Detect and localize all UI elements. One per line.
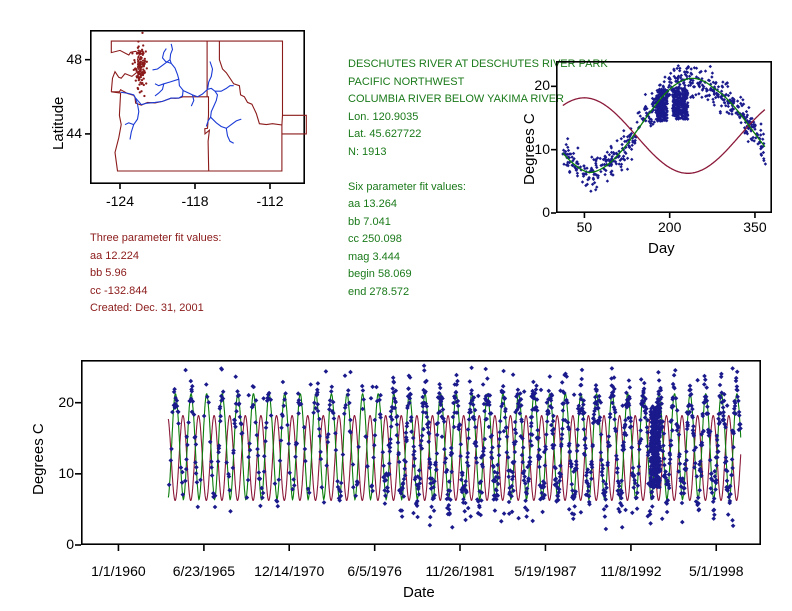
time-series-plot bbox=[81, 360, 761, 545]
six-param-cc: cc 250.098 bbox=[348, 231, 608, 249]
three-param-block: Three parameter fit values: aa 12.224 bb… bbox=[90, 230, 221, 318]
map-ylabel: Latitude bbox=[50, 97, 67, 150]
rivers bbox=[153, 60, 171, 70]
tick-label: -124 bbox=[106, 193, 134, 209]
tick-label: 12/14/1970 bbox=[254, 563, 324, 579]
day-cycle-panel bbox=[556, 61, 772, 213]
timeseries-xlabel: Date bbox=[403, 584, 435, 601]
state-outlines bbox=[111, 92, 209, 171]
tick-label: 0 bbox=[542, 204, 550, 220]
rivers bbox=[183, 88, 218, 126]
tick-label: 5/19/1987 bbox=[514, 563, 576, 579]
rivers bbox=[208, 62, 213, 90]
three-param-bb: bb 5.96 bbox=[90, 265, 221, 283]
tick-label: 50 bbox=[577, 219, 593, 235]
three-param-cc: cc -132.844 bbox=[90, 283, 221, 301]
created-date: Created: Dec. 31, 2001 bbox=[90, 300, 221, 318]
timeseries-ylabel: Degrees C bbox=[30, 423, 47, 495]
rivers bbox=[125, 123, 134, 125]
tick-label: 48 bbox=[66, 51, 82, 67]
tick-label: 6/5/1976 bbox=[347, 563, 402, 579]
tick-label: 10 bbox=[58, 465, 74, 481]
state-outlines bbox=[219, 41, 282, 125]
rivers bbox=[215, 86, 234, 92]
rivers bbox=[155, 79, 179, 86]
six-param-begin: begin 58.069 bbox=[348, 266, 608, 284]
tick-label: 20 bbox=[534, 77, 550, 93]
tick-label: 20 bbox=[58, 394, 74, 410]
tick-label: 44 bbox=[66, 125, 82, 141]
rivers bbox=[211, 117, 242, 128]
tick-label: -118 bbox=[182, 193, 209, 209]
tick-label: 0 bbox=[66, 536, 74, 552]
tick-label: 6/23/1965 bbox=[173, 563, 235, 579]
timeseries-points bbox=[167, 363, 743, 531]
rivers bbox=[226, 128, 233, 143]
tick-label: 11/26/1981 bbox=[425, 563, 494, 579]
tick-label: 11/8/1992 bbox=[600, 563, 661, 579]
state-outlines bbox=[207, 41, 282, 171]
six-param-mag: mag 3.444 bbox=[348, 249, 608, 267]
tick-label: 5/1/1998 bbox=[689, 563, 744, 579]
six-param-bb: bb 7.041 bbox=[348, 214, 608, 232]
map-panel bbox=[90, 30, 305, 184]
tick-label: 350 bbox=[743, 219, 766, 235]
six-param-end: end 278.572 bbox=[348, 284, 608, 302]
day-points bbox=[561, 64, 767, 193]
tick-label: 200 bbox=[658, 219, 681, 235]
tick-label: 1/1/1960 bbox=[91, 563, 146, 579]
state-outlines bbox=[111, 41, 207, 97]
day-cycle-plot bbox=[556, 61, 772, 213]
map-plot bbox=[90, 30, 305, 184]
three-param-heading: Three parameter fit values: bbox=[90, 230, 221, 248]
rivers bbox=[130, 98, 139, 140]
tick-label: -112 bbox=[257, 193, 284, 209]
tick-label: 10 bbox=[534, 141, 550, 157]
state-outlines bbox=[282, 115, 306, 134]
day-xlabel: Day bbox=[648, 240, 675, 257]
three-param-aa: aa 12.224 bbox=[90, 248, 221, 266]
time-series-panel bbox=[81, 360, 761, 545]
